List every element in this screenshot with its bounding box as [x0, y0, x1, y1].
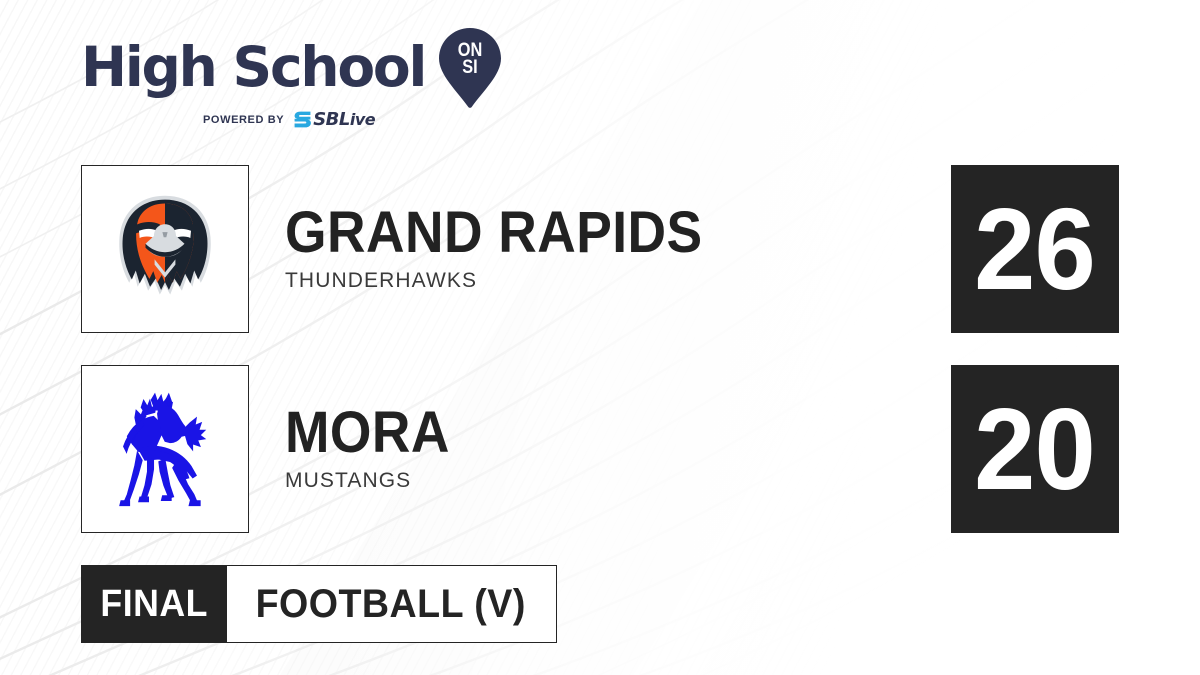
status-sport-label: FOOTBALL (V): [256, 582, 526, 627]
powered-by-label: POWERED BY: [203, 114, 284, 126]
scoreboard-graphic: High School ON SI POWERED BY SBLive: [0, 0, 1200, 675]
team-score: 26: [975, 191, 1096, 307]
team-mascot: MUSTANGS: [285, 469, 464, 493]
on-si-pin-icon: ON SI: [439, 28, 501, 108]
team-name: MORA: [285, 405, 450, 461]
status-state-label: FINAL: [100, 583, 208, 626]
team-mascot: THUNDERHAWKS: [285, 269, 739, 293]
team-score: 20: [975, 391, 1096, 507]
high-school-wordmark: High School: [81, 40, 425, 95]
game-status-bar: FINAL FOOTBALL (V): [81, 565, 557, 643]
mustang-horse-icon: [102, 386, 228, 512]
sblive-wordmark: SBLive: [313, 111, 375, 129]
team-logo-box: [81, 165, 249, 333]
sblive-word-upper: SBL: [313, 109, 350, 130]
thunderhawk-head-icon: [100, 184, 230, 314]
sblive-s-icon: [293, 110, 312, 129]
status-state-badge: FINAL: [81, 565, 227, 643]
brand-lockup: High School ON SI POWERED BY SBLive: [81, 33, 511, 129]
sblive-logo: SBLive: [293, 110, 375, 129]
team-text-block: MORA MUSTANGS: [285, 365, 464, 533]
team-name: GRAND RAPIDS: [285, 205, 703, 261]
sblive-word-lower: ive: [350, 110, 375, 129]
team-text-block: GRAND RAPIDS THUNDERHAWKS: [285, 165, 739, 333]
team-score-box: 26: [951, 165, 1119, 333]
on-si-pin-line2: SI: [443, 59, 496, 76]
team-logo-box: [81, 365, 249, 533]
status-sport-badge: FOOTBALL (V): [227, 565, 557, 643]
team-score-box: 20: [951, 365, 1119, 533]
powered-by-row: POWERED BY SBLive: [203, 110, 511, 129]
